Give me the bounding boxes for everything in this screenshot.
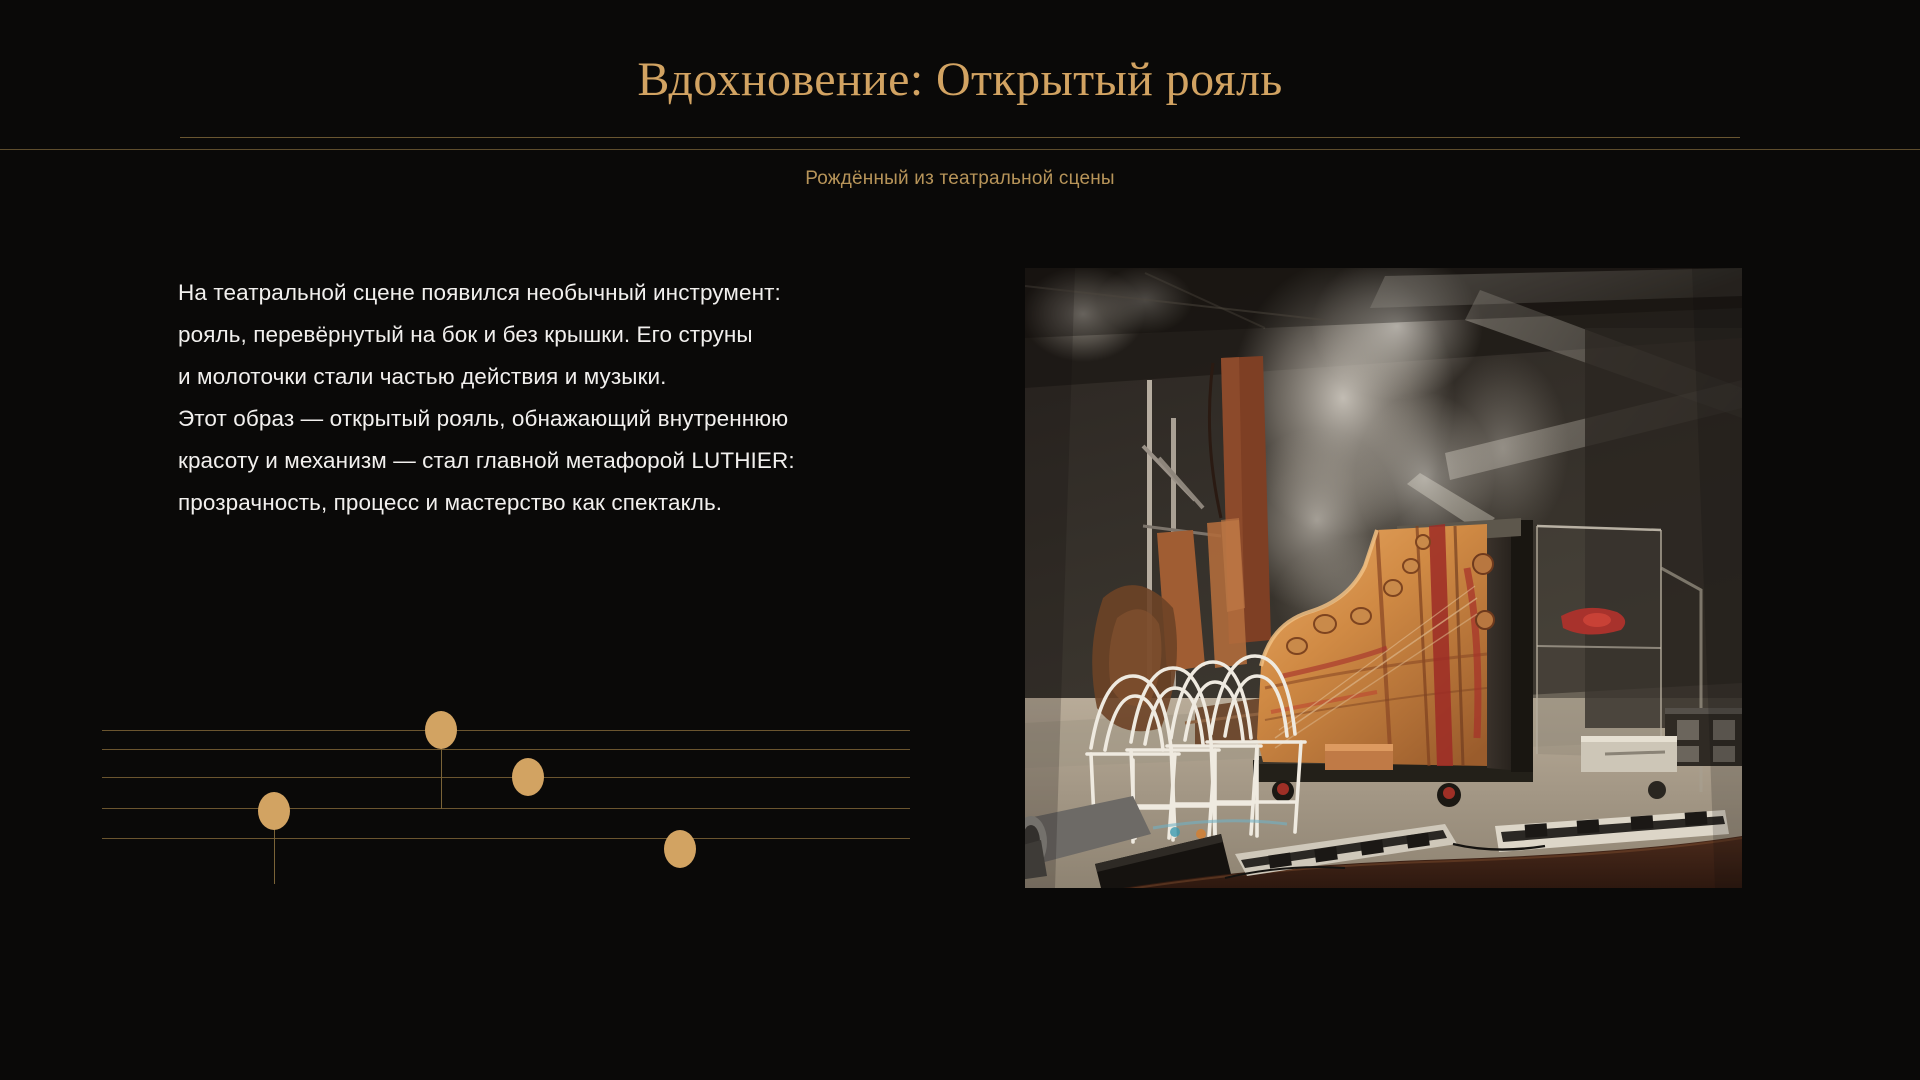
slide-root: Вдохновение: Открытый рояль Рождённый из… (0, 0, 1920, 1080)
staff-line (102, 730, 910, 731)
page-subtitle: Рождённый из театральной сцены (0, 168, 1920, 190)
note-head-2 (425, 711, 457, 749)
staff-line (102, 838, 910, 839)
stage-piano-photograph (1025, 268, 1742, 888)
header-rule-inner (180, 137, 1740, 138)
musical-staff-decoration (102, 700, 910, 900)
note-head-1 (258, 792, 290, 830)
body-copy: На театральной сцене появился необычный … (178, 272, 968, 524)
staff-line (102, 808, 910, 809)
note-head-4 (664, 830, 696, 868)
staff-line (102, 749, 910, 750)
staff-line (102, 777, 910, 778)
page-title: Вдохновение: Открытый рояль (0, 52, 1920, 107)
header-rule-outer (0, 149, 1920, 150)
body-paragraph-2: Этот образ — открытый рояль, обнажающий … (178, 398, 968, 524)
note-head-3 (512, 758, 544, 796)
body-paragraph-1: На театральной сцене появился необычный … (178, 272, 968, 398)
